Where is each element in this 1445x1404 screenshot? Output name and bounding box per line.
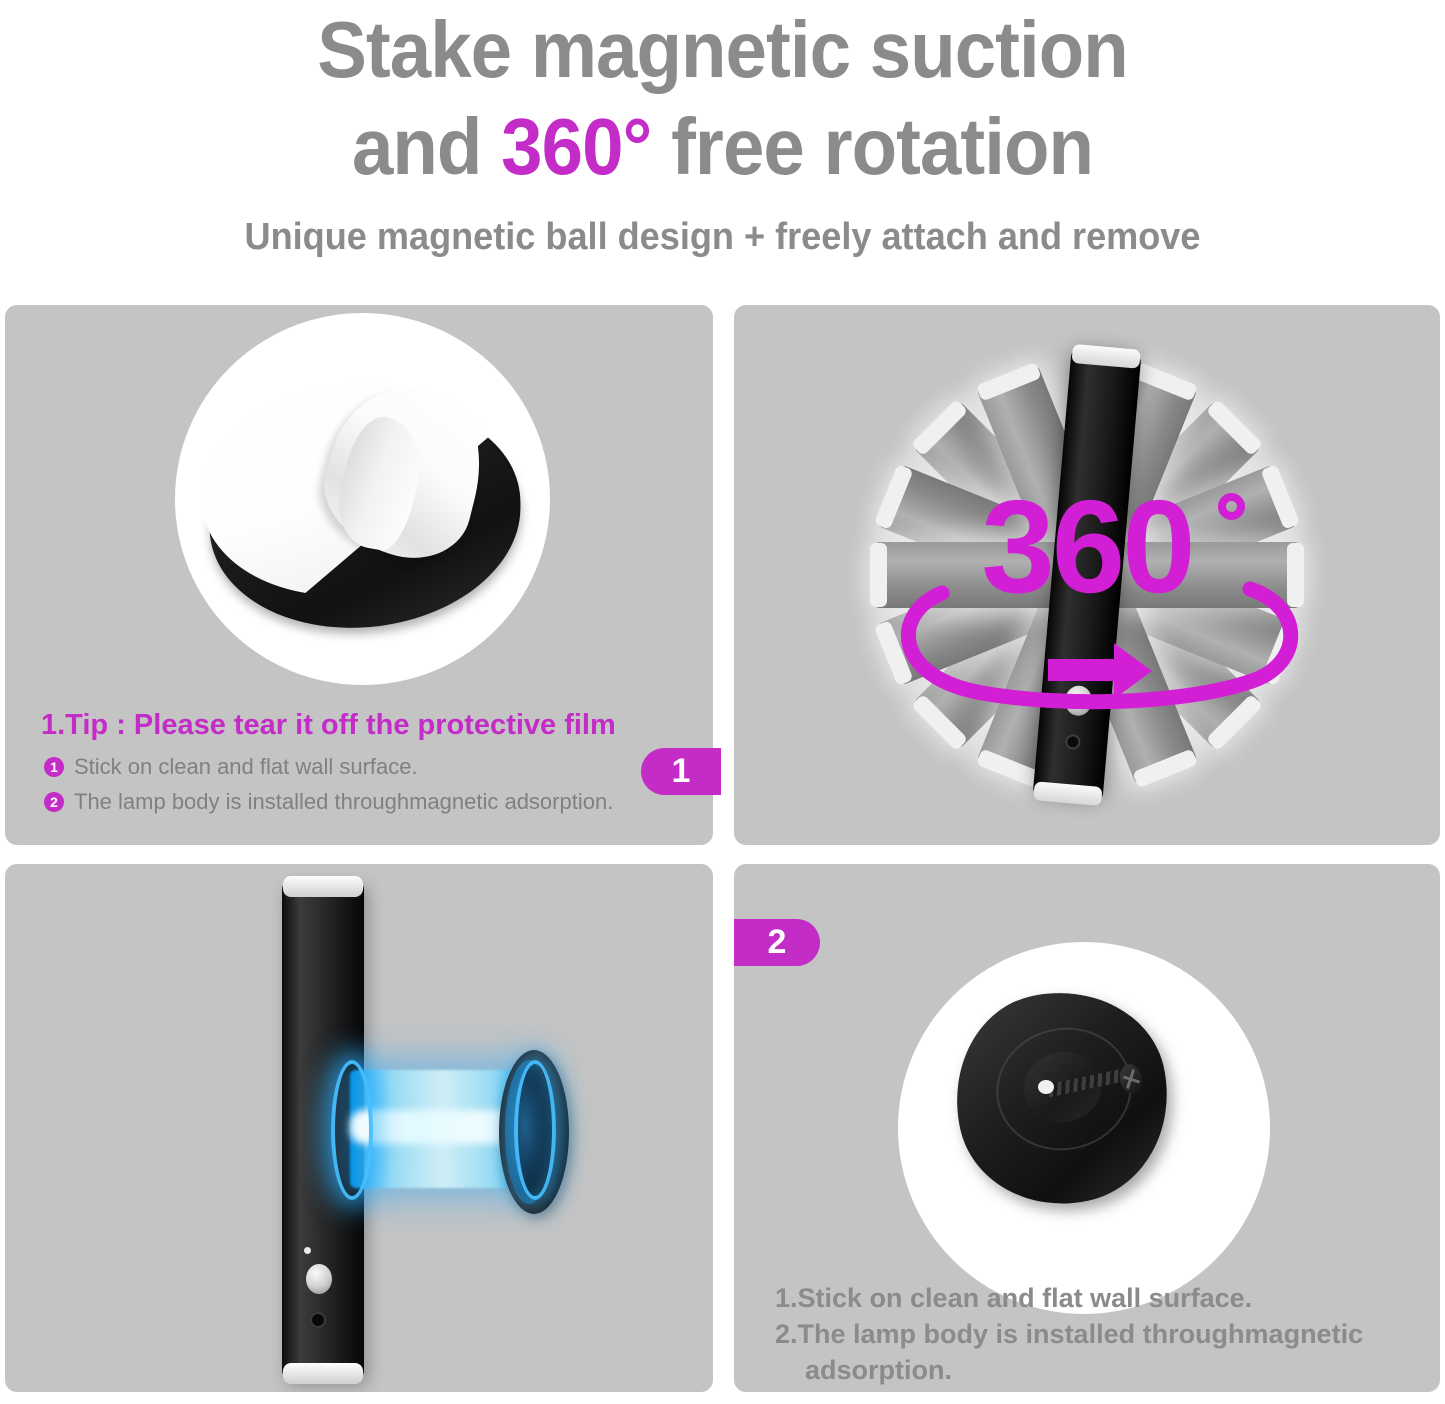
install-steps-list: 1 Stick on clean and flat wall surface. …	[44, 753, 664, 823]
charging-port-icon	[310, 1312, 326, 1328]
instruction-line-3: adsorption.	[775, 1352, 1435, 1388]
lamp-cap-bottom	[283, 1363, 363, 1384]
title-accent-360: 360°	[501, 102, 651, 191]
page-title-line2: and 360° free rotation	[51, 99, 1395, 195]
step-text: Stick on clean and flat wall surface.	[74, 753, 418, 781]
screw-hole	[1038, 1080, 1054, 1094]
charging-port-icon	[1065, 734, 1081, 750]
step-badge-1: 1	[641, 748, 721, 795]
step-number-badge: 1	[44, 757, 64, 777]
magnetic-ring-lamp-side	[331, 1060, 373, 1200]
lamp-cap-bottom	[1033, 781, 1102, 806]
step-badge-2: 2	[734, 919, 820, 966]
mounting-instructions: 1.Stick on clean and flat wall surface. …	[775, 1280, 1435, 1388]
lamp-cap-top	[283, 876, 363, 897]
title-prefix: and	[352, 102, 501, 191]
header: Stake magnetic suction and 360° free rot…	[0, 0, 1445, 295]
title-suffix: free rotation	[651, 102, 1093, 191]
rotation-degrees-label: 360	[852, 481, 1322, 613]
rotation-panel: 360	[734, 305, 1440, 845]
list-item: 2 The lamp body is installed throughmagn…	[44, 788, 664, 816]
page-title-line1: Stake magnetic suction	[51, 2, 1395, 98]
step-number-badge: 2	[44, 792, 64, 812]
adhesive-pad-illustration	[201, 383, 531, 633]
motion-sensor-icon	[306, 1264, 332, 1294]
list-item: 1 Stick on clean and flat wall surface.	[44, 753, 664, 781]
page-subtitle: Unique magnetic ball design + freely att…	[36, 212, 1409, 262]
lamp-cap-top	[1071, 344, 1140, 369]
rotation-annotation: 360	[852, 481, 1322, 731]
magnetic-attach-panel	[5, 864, 713, 1392]
rotation-fan-stage: 360	[734, 305, 1440, 845]
degree-symbol-icon	[1218, 493, 1245, 520]
instruction-line-2: 2.The lamp body is installed throughmagn…	[775, 1316, 1435, 1352]
magnetic-ring-mount-side	[514, 1060, 556, 1200]
instruction-line-1: 1.Stick on clean and flat wall surface.	[775, 1280, 1435, 1316]
lamp-indicator-dot	[304, 1247, 311, 1254]
infographic-page: Stake magnetic suction and 360° free rot…	[0, 0, 1445, 1404]
tip-heading: 1.Tip : Please tear it off the protectiv…	[41, 707, 616, 743]
step-text: The lamp body is installed throughmagnet…	[74, 788, 613, 816]
